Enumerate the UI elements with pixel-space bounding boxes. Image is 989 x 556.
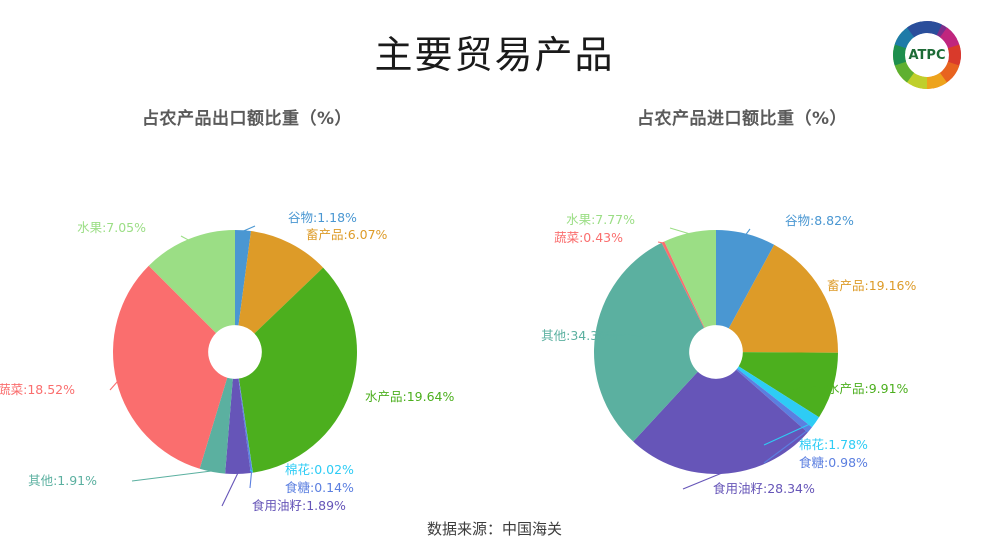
import-chart-block: 占农产品进口额比重（%） 谷物:8.82%畜产品:19.16%水产品:9.91%… [495, 104, 989, 504]
pie-slice-label: 畜产品:19.16% [827, 278, 916, 293]
pie-slice-label: 水果:7.05% [77, 220, 146, 235]
export-pie-canvas: 谷物:1.18%畜产品:6.07%水产品:19.64%棉花:0.02%食糖:0.… [0, 104, 494, 504]
export-chart-block: 占农产品出口额比重（%） 谷物:1.18%畜产品:6.07%水产品:19.64%… [0, 104, 494, 504]
data-source-note: 数据来源：中国海关 [0, 518, 989, 539]
pie-slice-label: 食糖:0.14% [285, 480, 354, 495]
pie-slice-label: 畜产品:6.07% [306, 227, 388, 242]
page-title: 主要贸易产品 [0, 24, 989, 79]
pie-slice-label: 谷物:1.18% [288, 210, 357, 225]
atpc-logo: ATPC [884, 14, 970, 96]
pie-slice-label: 其他:34.30% [541, 328, 618, 343]
pie-leader-line [250, 472, 252, 488]
pie-leader-line [746, 229, 750, 235]
pie-slice-label: 水果:7.77% [566, 212, 635, 227]
pie-leader-line [222, 473, 238, 506]
pie-leader-line [658, 242, 663, 243]
pie-slice-label: 水产品:9.91% [827, 381, 909, 396]
pie-slice-label: 其他:1.91% [28, 473, 97, 488]
pie-slice-label: 食糖:0.98% [799, 455, 868, 470]
pie-slice-label: 蔬菜:18.52% [0, 382, 75, 397]
pie-slice-label: 蔬菜:0.43% [554, 230, 623, 245]
import-pie-canvas: 谷物:8.82%畜产品:19.16%水产品:9.91%棉花:1.78%食糖:0.… [495, 104, 989, 504]
pie-leader-line [670, 228, 690, 234]
pie-slice-label: 食用油籽:28.34% [713, 481, 815, 496]
logo-text: ATPC [909, 48, 946, 63]
pie-slice-label: 水产品:19.64% [365, 389, 454, 404]
pie-leader-line [132, 471, 212, 481]
pie-leader-line [181, 236, 189, 240]
pie-leader-line [243, 226, 255, 231]
pie-slice-label: 棉花:0.02% [285, 462, 354, 477]
pie-slice-label: 谷物:8.82% [785, 213, 854, 228]
pie-slice-label: 棉花:1.78% [799, 437, 868, 452]
pie-slice-label: 食用油籽:1.89% [252, 498, 346, 513]
pie-leader-line [110, 381, 118, 390]
